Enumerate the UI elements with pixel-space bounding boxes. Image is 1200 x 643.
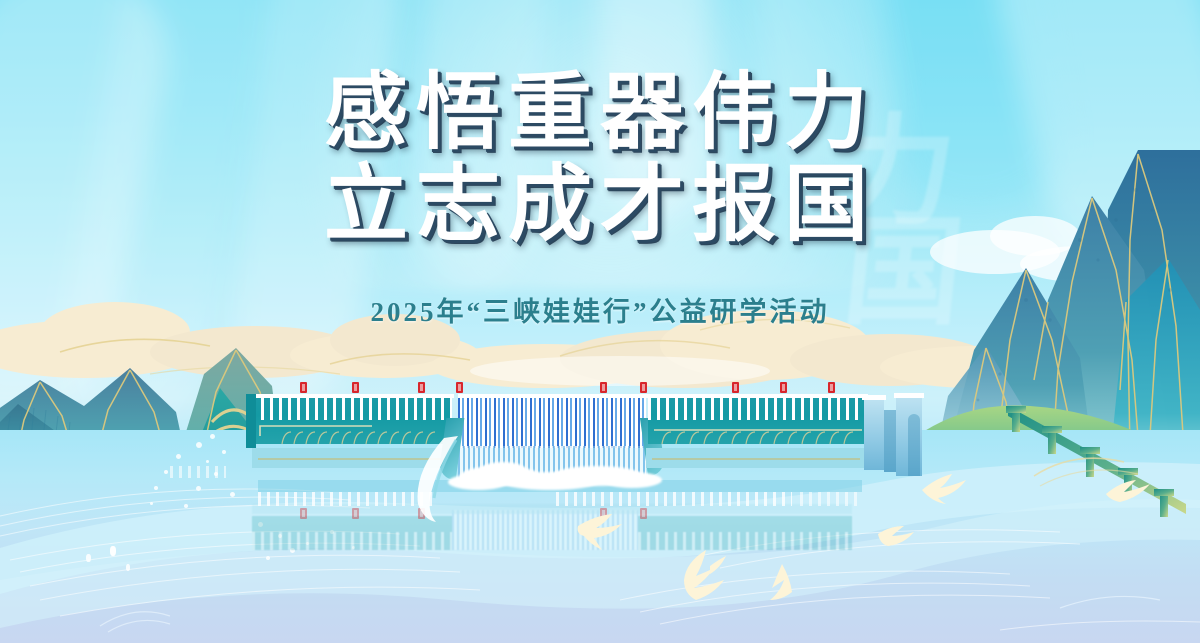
dam-crest-flag [418,382,425,393]
headline-block: 感悟重器伟力 立志成才报国 [0,66,1200,250]
banner-root: 力 国 [0,0,1200,643]
water-bubble [230,492,235,497]
headline-line-1: 感悟重器伟力 [0,66,1200,158]
water-bubble [86,554,91,562]
flying-swallow [680,546,742,602]
water-bubble [222,450,226,454]
water-bubble [110,546,116,556]
water-bubble [206,460,209,463]
dam-foam [602,472,662,488]
water-bubble [176,454,181,459]
dam-crest-flag [352,382,359,393]
dam-crest-flag [732,382,739,393]
flying-swallow [918,472,972,506]
tower-cap [862,395,886,400]
three-gorges-dam [252,386,932,526]
dam-foam [480,462,526,478]
water-bubble [154,486,158,490]
gold-flourish [1030,446,1160,506]
ship-lift-tower [908,414,920,476]
headline-line-2: 立志成才报国 [0,158,1200,250]
water-bubble [196,442,202,448]
dam-crest-flag [600,382,607,393]
dam-left-wall [246,394,256,448]
flying-swallow [764,562,796,604]
dam-right-detail [648,414,868,450]
water-bubble [164,470,168,474]
dam-crest-flag [300,382,307,393]
dam-crest-flag [640,382,647,393]
dam-apron-line [652,458,860,460]
water-bubble [184,504,188,508]
dam-crest [458,394,648,398]
water-bubble [150,502,153,505]
subtitle-text: 2025年“三峡娃娃行”公益研学活动 [0,290,1200,329]
flying-swallow [876,524,916,552]
water-bubble [266,556,270,560]
ship-lift-tower [864,398,884,470]
dam-crest-flag [828,382,835,393]
water-bubble [210,434,215,439]
flying-swallow [572,512,628,552]
water-bubble [196,486,201,491]
water-bubble [126,564,130,571]
ship-lift-tower [884,410,896,472]
dam-crest-flag [456,382,463,393]
left-bank-pillars [170,466,226,478]
dam-crest-flag [780,382,787,393]
tower-cap [894,393,924,398]
